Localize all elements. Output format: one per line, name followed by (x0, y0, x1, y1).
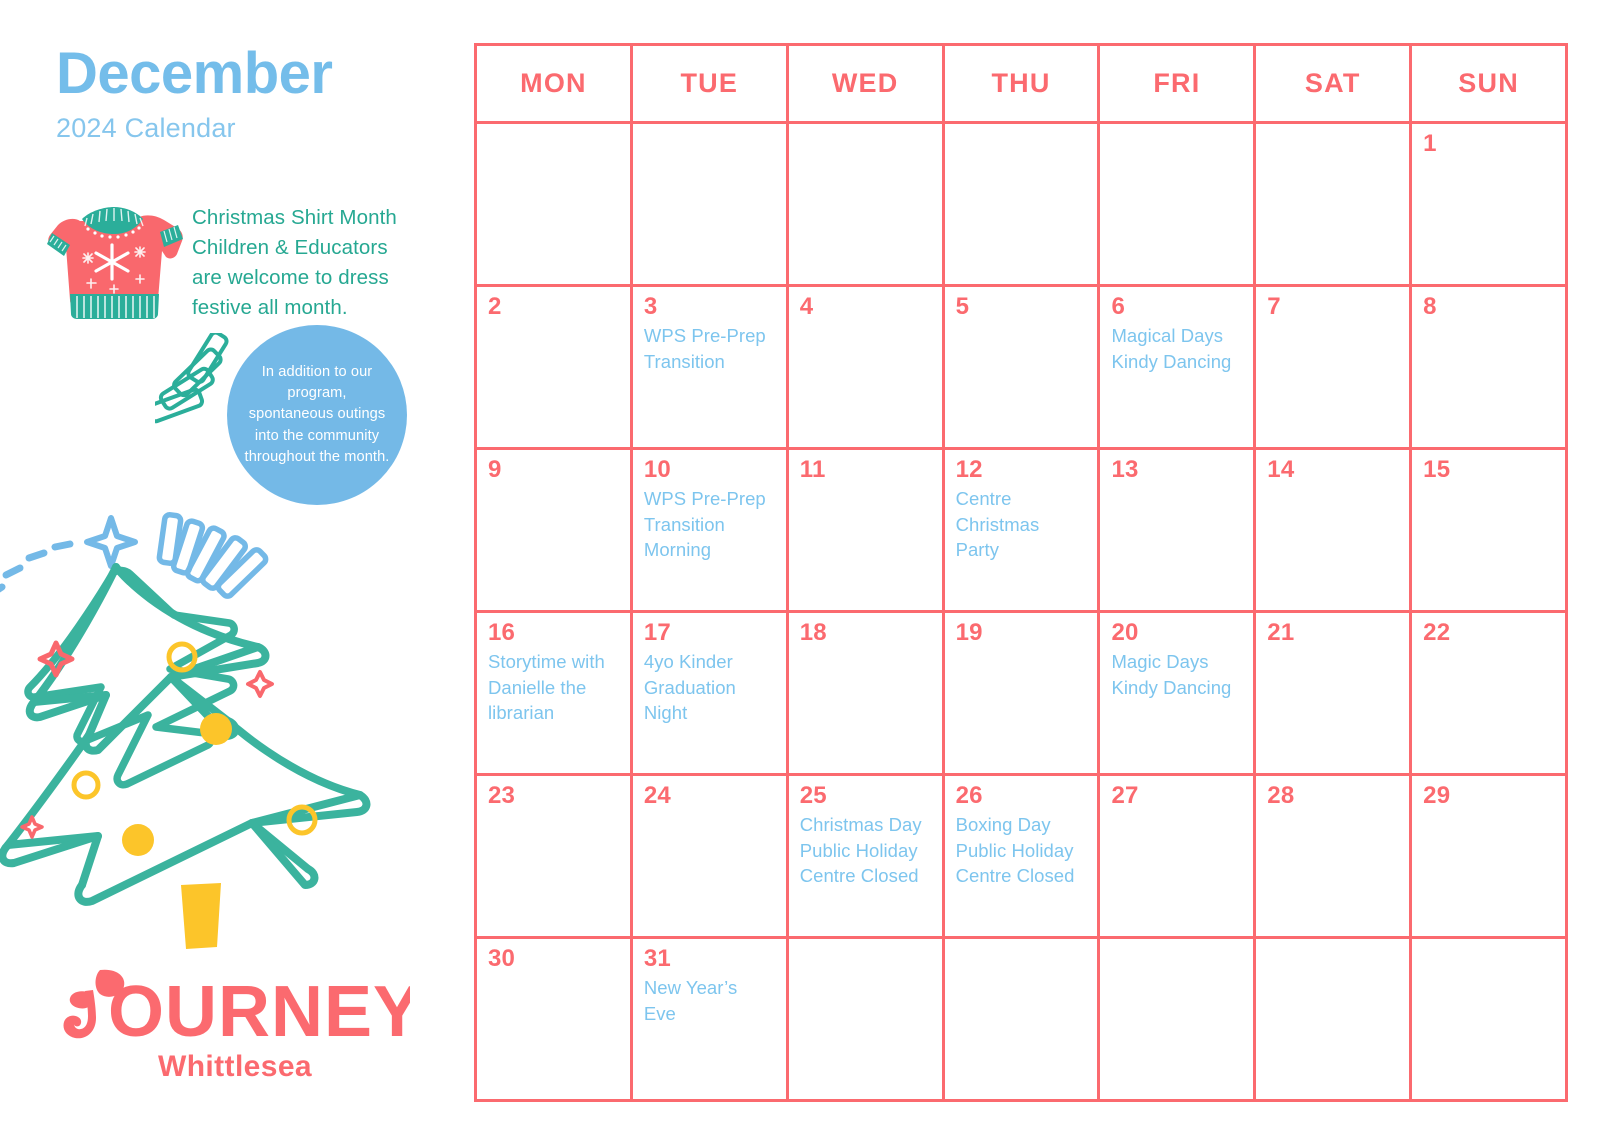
day-event-line: Christmas (956, 512, 1088, 538)
christmas-shirt-note-text: Christmas Shirt MonthChildren & Educator… (184, 195, 397, 324)
day-number: 4 (800, 294, 932, 320)
day-cell-empty (789, 939, 945, 1099)
day-cell-19[interactable]: 19 (945, 613, 1101, 773)
journey-wordmark: OURNEY (60, 960, 410, 1046)
day-number: 17 (644, 620, 776, 646)
weekday-header-mon: MON (477, 46, 633, 121)
sparkle-icon (248, 672, 272, 696)
left-panel: December 2024 Calendar (0, 0, 470, 1139)
day-event-line: Centre Closed (956, 863, 1088, 889)
day-event-line: Eve (644, 1001, 776, 1027)
day-event-line: Party (956, 537, 1088, 563)
day-cell-27[interactable]: 27 (1100, 776, 1256, 936)
day-number: 21 (1267, 620, 1399, 646)
day-cell-28[interactable]: 28 (1256, 776, 1412, 936)
weekday-header-wed: WED (789, 46, 945, 121)
calendar-weeks: 123WPS Pre-PrepTransition456Magical Days… (477, 121, 1565, 1099)
day-event-line: Kindy Dancing (1111, 349, 1243, 375)
day-cell-17[interactable]: 174yo KinderGraduationNight (633, 613, 789, 773)
day-cell-empty (1100, 939, 1256, 1099)
day-events: Magical DaysKindy Dancing (1111, 323, 1243, 374)
page-title: December (56, 44, 332, 105)
day-cell-18[interactable]: 18 (789, 613, 945, 773)
community-outings-note: In addition to our program, spontaneous … (227, 325, 407, 505)
day-cell-5[interactable]: 5 (945, 287, 1101, 447)
day-cell-empty (1256, 939, 1412, 1099)
calendar-week-row: 23WPS Pre-PrepTransition456Magical DaysK… (477, 284, 1565, 447)
day-cell-13[interactable]: 13 (1100, 450, 1256, 610)
day-cell-11[interactable]: 11 (789, 450, 945, 610)
day-cell-empty (1256, 124, 1412, 284)
day-cell-23[interactable]: 23 (477, 776, 633, 936)
day-cell-1[interactable]: 1 (1412, 124, 1565, 284)
day-cell-12[interactable]: 12CentreChristmasParty (945, 450, 1101, 610)
day-events: Storytime withDanielle thelibrarian (488, 649, 620, 726)
day-number: 19 (956, 620, 1088, 646)
weekday-header-sat: SAT (1256, 46, 1412, 121)
day-events: 4yo KinderGraduationNight (644, 649, 776, 726)
day-number: 29 (1423, 783, 1555, 809)
weekday-header-label: THU (991, 68, 1050, 99)
calendar-week-row: 1 (477, 121, 1565, 284)
day-cell-3[interactable]: 3WPS Pre-PrepTransition (633, 287, 789, 447)
weekday-header-thu: THU (945, 46, 1101, 121)
day-cell-9[interactable]: 9 (477, 450, 633, 610)
day-cell-26[interactable]: 26Boxing DayPublic HolidayCentre Closed (945, 776, 1101, 936)
day-event-line: Centre Closed (800, 863, 932, 889)
day-cell-14[interactable]: 14 (1256, 450, 1412, 610)
day-number: 14 (1267, 457, 1399, 483)
day-number: 8 (1423, 294, 1555, 320)
day-cell-21[interactable]: 21 (1256, 613, 1412, 773)
day-cell-25[interactable]: 25Christmas DayPublic HolidayCentre Clos… (789, 776, 945, 936)
tree-trunk (181, 883, 221, 949)
day-number: 30 (488, 946, 620, 972)
day-cell-10[interactable]: 10WPS Pre-PrepTransitionMorning (633, 450, 789, 610)
day-event-line: Morning (644, 537, 776, 563)
day-event-line: Boxing Day (956, 812, 1088, 838)
weekday-header-label: SUN (1458, 68, 1519, 99)
day-cell-4[interactable]: 4 (789, 287, 945, 447)
day-cell-7[interactable]: 7 (1256, 287, 1412, 447)
svg-text:OURNEY: OURNEY (108, 972, 410, 1046)
day-number: 1 (1423, 131, 1555, 157)
day-cell-2[interactable]: 2 (477, 287, 633, 447)
day-event-line: Christmas Day (800, 812, 932, 838)
day-number: 25 (800, 783, 932, 809)
christmas-shirt-note-line: festive all month. (192, 293, 397, 323)
weekday-header-row: MONTUEWEDTHUFRISATSUN (477, 46, 1565, 121)
day-number: 27 (1111, 783, 1243, 809)
day-cell-20[interactable]: 20Magic DaysKindy Dancing (1100, 613, 1256, 773)
weekday-header-label: FRI (1153, 68, 1200, 99)
calendar-grid: MONTUEWEDTHUFRISATSUN 123WPS Pre-PrepTra… (474, 43, 1568, 1102)
day-event-line: Storytime with (488, 649, 620, 675)
day-event-line: Kindy Dancing (1111, 675, 1243, 701)
weekday-header-label: WED (832, 68, 899, 99)
day-number: 24 (644, 783, 776, 809)
day-number: 22 (1423, 620, 1555, 646)
day-event-line: WPS Pre-Prep (644, 486, 776, 512)
day-event-line: Public Holiday (800, 838, 932, 864)
day-cell-empty (1412, 939, 1565, 1099)
day-cell-15[interactable]: 15 (1412, 450, 1565, 610)
calendar-week-row: 232425Christmas DayPublic HolidayCentre … (477, 773, 1565, 936)
calendar-poster: December 2024 Calendar (0, 0, 1600, 1139)
christmas-shirt-note-line: Children & Educators (192, 233, 397, 263)
day-events: WPS Pre-PrepTransitionMorning (644, 486, 776, 563)
day-number: 28 (1267, 783, 1399, 809)
day-number: 12 (956, 457, 1088, 483)
day-number: 13 (1111, 457, 1243, 483)
calendar-week-row: 3031New Year’sEve (477, 936, 1565, 1099)
day-cell-8[interactable]: 8 (1412, 287, 1565, 447)
day-number: 10 (644, 457, 776, 483)
garland-strips-icon (159, 514, 268, 598)
day-events: Magic DaysKindy Dancing (1111, 649, 1243, 700)
day-event-line: Transition (644, 349, 776, 375)
day-cell-empty (789, 124, 945, 284)
day-cell-24[interactable]: 24 (633, 776, 789, 936)
day-event-line: WPS Pre-Prep (644, 323, 776, 349)
community-outings-note-text: In addition to our program, spontaneous … (243, 362, 391, 468)
weekday-header-sun: SUN (1412, 46, 1565, 121)
christmas-shirt-note: Christmas Shirt MonthChildren & Educator… (44, 195, 454, 324)
ornament-filled (200, 713, 232, 745)
day-event-line: 4yo Kinder (644, 649, 776, 675)
weekday-header-label: SAT (1305, 68, 1361, 99)
day-cell-empty (477, 124, 633, 284)
day-events: CentreChristmasParty (956, 486, 1088, 563)
day-number: 16 (488, 620, 620, 646)
day-number: 5 (956, 294, 1088, 320)
day-number: 26 (956, 783, 1088, 809)
ornament-filled (122, 824, 154, 856)
calendar-week-row: 910WPS Pre-PrepTransitionMorning1112Cent… (477, 447, 1565, 610)
day-cell-22[interactable]: 22 (1412, 613, 1565, 773)
day-event-line: Night (644, 700, 776, 726)
day-cell-6[interactable]: 6Magical DaysKindy Dancing (1100, 287, 1256, 447)
day-cell-empty (633, 124, 789, 284)
brand-logo: OURNEY Whittlesea (0, 960, 470, 1084)
day-event-line: New Year’s (644, 975, 776, 1001)
page-subtitle: 2024 Calendar (56, 113, 332, 144)
weekday-header-tue: TUE (633, 46, 789, 121)
day-event-line: Transition (644, 512, 776, 538)
day-events: New Year’sEve (644, 975, 776, 1026)
day-cell-empty (945, 939, 1101, 1099)
day-event-line: Graduation (644, 675, 776, 701)
weekday-header-label: MON (520, 68, 587, 99)
christmas-tree-icon (0, 495, 398, 965)
day-number: 3 (644, 294, 776, 320)
day-number: 6 (1111, 294, 1243, 320)
weekday-header-fri: FRI (1100, 46, 1256, 121)
day-cell-30[interactable]: 30 (477, 939, 633, 1099)
day-cell-16[interactable]: 16Storytime withDanielle thelibrarian (477, 613, 633, 773)
day-events: Boxing DayPublic HolidayCentre Closed (956, 812, 1088, 889)
day-number: 18 (800, 620, 932, 646)
day-event-line: Magic Days (1111, 649, 1243, 675)
weekday-header-label: TUE (680, 68, 738, 99)
day-number: 20 (1111, 620, 1243, 646)
day-cell-empty (945, 124, 1101, 284)
day-number: 15 (1423, 457, 1555, 483)
title-block: December 2024 Calendar (56, 44, 332, 144)
christmas-shirt-note-line: are welcome to dress (192, 263, 397, 293)
brand-location: Whittlesea (0, 1050, 470, 1084)
sparkle-star-icon (87, 518, 135, 566)
day-event-line: Centre (956, 486, 1088, 512)
day-number: 23 (488, 783, 620, 809)
christmas-shirt-icon (44, 195, 184, 320)
day-event-line: Danielle the (488, 675, 620, 701)
day-cell-31[interactable]: 31New Year’sEve (633, 939, 789, 1099)
day-number: 31 (644, 946, 776, 972)
ornament-outline (74, 773, 98, 797)
day-event-line: librarian (488, 700, 620, 726)
christmas-shirt-note-line: Christmas Shirt Month (192, 203, 397, 233)
day-cell-29[interactable]: 29 (1412, 776, 1565, 936)
day-events: WPS Pre-PrepTransition (644, 323, 776, 374)
day-number: 7 (1267, 294, 1399, 320)
day-cell-empty (1100, 124, 1256, 284)
day-events: Christmas DayPublic HolidayCentre Closed (800, 812, 932, 889)
day-event-line: Public Holiday (956, 838, 1088, 864)
calendar-week-row: 16Storytime withDanielle thelibrarian174… (477, 610, 1565, 773)
day-event-line: Magical Days (1111, 323, 1243, 349)
day-number: 2 (488, 294, 620, 320)
day-number: 11 (800, 457, 932, 483)
day-number: 9 (488, 457, 620, 483)
